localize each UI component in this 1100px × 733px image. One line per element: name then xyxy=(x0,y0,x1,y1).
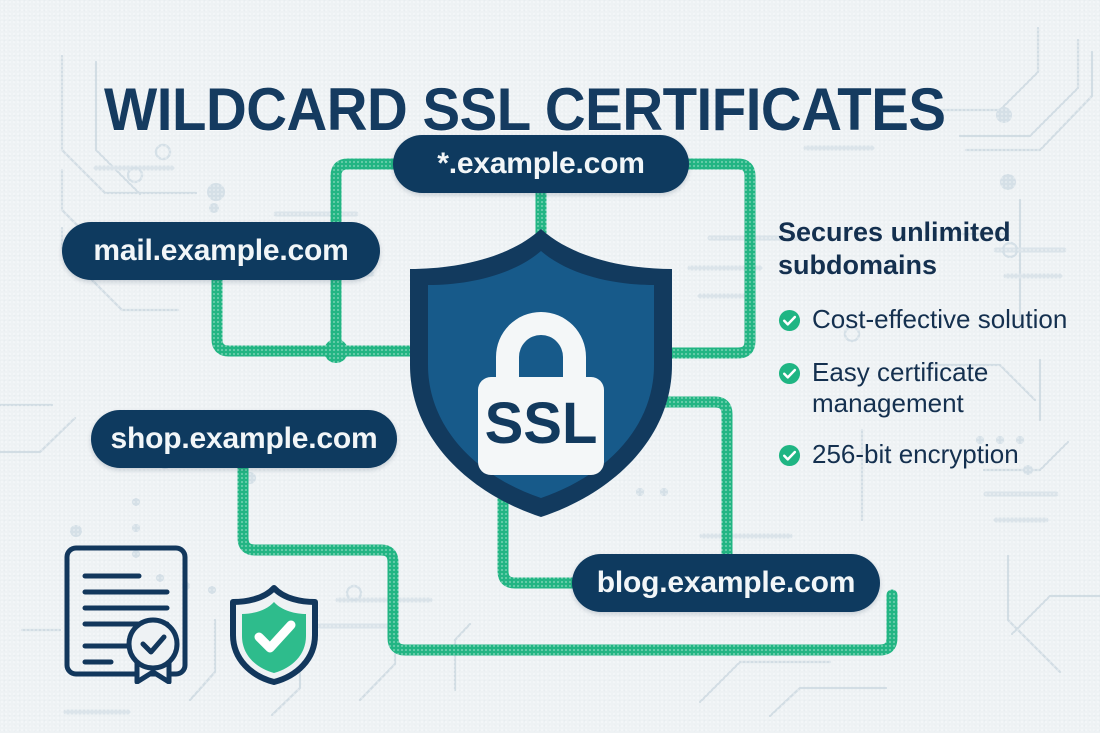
shield-ssl-label: SSL xyxy=(485,391,598,456)
benefit-label: Cost-effective solution xyxy=(812,304,1074,335)
check-circle-icon xyxy=(778,362,801,390)
shield-lock-icon: SSL xyxy=(396,225,686,521)
benefit-label: 256-bit encryption xyxy=(812,439,1074,470)
node-mail-subdomain[interactable]: mail.example.com xyxy=(62,222,380,280)
benefit-item: Cost-effective solution xyxy=(778,304,1078,337)
page-title: WILDCARD SSL CERTIFICATES xyxy=(104,78,946,142)
check-circle-icon xyxy=(778,309,801,337)
node-shop-subdomain[interactable]: shop.example.com xyxy=(91,410,397,468)
shield-check-icon xyxy=(228,585,320,685)
node-wildcard-domain[interactable]: *.example.com xyxy=(393,135,689,193)
node-blog-subdomain[interactable]: blog.example.com xyxy=(572,554,880,612)
benefit-label: Easy certificate management xyxy=(812,357,1074,419)
certificate-seal-icon xyxy=(63,544,191,684)
benefits-heading: Secures unlimited subdomains xyxy=(778,216,1060,282)
check-circle-icon xyxy=(778,444,801,472)
link-mail-to-junction xyxy=(217,280,336,351)
benefits-panel: Secures unlimited subdomains Cost-effect… xyxy=(778,216,1078,492)
infographic-canvas: WILDCARD SSL CERTIFICATES SSL *.example.… xyxy=(0,0,1100,733)
benefit-item: 256-bit encryption xyxy=(778,439,1078,472)
link-junction-dot xyxy=(324,339,348,363)
benefit-item: Easy certificate management xyxy=(778,357,1078,419)
